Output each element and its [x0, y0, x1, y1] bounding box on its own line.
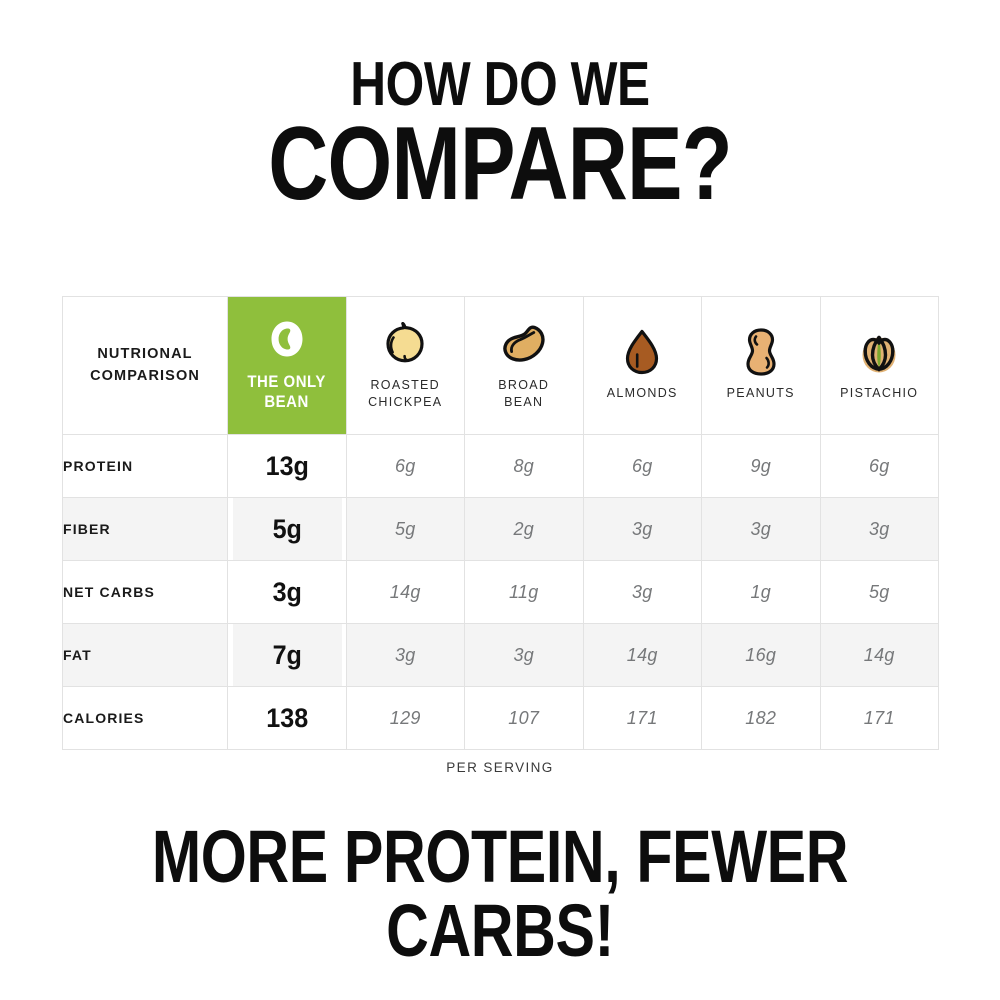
table-header-row: NUTRIONAL COMPARISON THE ONLY [63, 297, 939, 435]
cell-almonds: 3g [583, 561, 702, 624]
row-label: NET CARBS [63, 561, 228, 624]
column-header-peanuts: PEANUTS [702, 297, 821, 435]
brand-name-line-1: THE ONLY [248, 372, 326, 391]
headline-line-2: COMPARE? [100, 115, 900, 214]
cell-the-only-bean: 5g [232, 498, 342, 561]
brand-name-line-2: BEAN [248, 392, 326, 411]
cell-peanuts: 182 [702, 687, 821, 750]
cell-the-only-bean: 3g [232, 561, 342, 624]
cell-peanuts: 9g [702, 435, 821, 498]
cell-broad-bean: 11g [465, 561, 584, 624]
headline-line-1: HOW DO WE [100, 56, 900, 113]
table-row: CALORIES 138 129 107 171 182 171 [63, 687, 939, 750]
cell-pistachio: 6g [820, 435, 939, 498]
cell-the-only-bean: 13g [232, 435, 342, 498]
cell-roasted-chickpea: 6g [346, 435, 465, 498]
bean-logo-icon [270, 320, 304, 363]
cell-broad-bean: 2g [465, 498, 584, 561]
cell-the-only-bean: 138 [232, 687, 342, 750]
header-label-line-1: NUTRIONAL [63, 344, 227, 365]
table-row: FIBER 5g 5g 2g 3g 3g 3g [63, 498, 939, 561]
cell-pistachio: 3g [820, 498, 939, 561]
footer-slogan: MORE PROTEIN, FEWER CARBS! [100, 820, 900, 968]
cell-roasted-chickpea: 5g [346, 498, 465, 561]
nutrition-comparison-table: NUTRIONAL COMPARISON THE ONLY [62, 296, 939, 750]
comparison-table-wrapper: NUTRIONAL COMPARISON THE ONLY [62, 296, 938, 750]
column-header-pistachio: PISTACHIO [820, 297, 939, 435]
header-label-line-2: COMPARISON [63, 366, 227, 387]
column-label-line-1: PEANUTS [727, 385, 795, 402]
broad-bean-icon [501, 321, 547, 367]
cell-pistachio: 171 [820, 687, 939, 750]
cell-peanuts: 16g [702, 624, 821, 687]
almond-icon [625, 329, 659, 375]
per-serving-caption: PER SERVING [0, 760, 1000, 775]
column-header-almonds: ALMONDS [583, 297, 702, 435]
cell-roasted-chickpea: 129 [346, 687, 465, 750]
column-label-line-1: BROAD [498, 377, 549, 394]
column-label-line-2: BEAN [498, 394, 549, 411]
row-label: CALORIES [63, 687, 228, 750]
table-row: NET CARBS 3g 14g 11g 3g 1g 5g [63, 561, 939, 624]
cell-almonds: 6g [583, 435, 702, 498]
cell-roasted-chickpea: 14g [346, 561, 465, 624]
cell-roasted-chickpea: 3g [346, 624, 465, 687]
column-label-line-2: CHICKPEA [368, 394, 442, 411]
column-label-line-1: ROASTED [368, 377, 442, 394]
cell-broad-bean: 3g [465, 624, 584, 687]
cell-almonds: 3g [583, 498, 702, 561]
cell-pistachio: 14g [820, 624, 939, 687]
table-row: FAT 7g 3g 3g 14g 16g 14g [63, 624, 939, 687]
page-title: HOW DO WE COMPARE? [0, 0, 1000, 214]
infographic-page: HOW DO WE COMPARE? NUTRIONAL COMPARISON [0, 0, 1000, 1000]
cell-pistachio: 5g [820, 561, 939, 624]
row-label: PROTEIN [63, 435, 228, 498]
column-header-the-only-bean: THE ONLY BEAN [228, 297, 347, 435]
cell-the-only-bean: 7g [232, 624, 342, 687]
column-header-broad-bean: BROAD BEAN [465, 297, 584, 435]
chickpea-icon [384, 321, 426, 367]
row-label: FAT [63, 624, 228, 687]
column-label-line-1: PISTACHIO [840, 385, 918, 402]
peanut-icon [745, 329, 777, 375]
column-label-line-1: ALMONDS [607, 385, 678, 402]
pistachio-icon [860, 329, 898, 375]
cell-almonds: 14g [583, 624, 702, 687]
column-header-roasted-chickpea: ROASTED CHICKPEA [346, 297, 465, 435]
cell-almonds: 171 [583, 687, 702, 750]
table-row: PROTEIN 13g 6g 8g 6g 9g 6g [63, 435, 939, 498]
cell-broad-bean: 107 [465, 687, 584, 750]
cell-peanuts: 3g [702, 498, 821, 561]
row-label: FIBER [63, 498, 228, 561]
nutrition-comparison-header-cell: NUTRIONAL COMPARISON [63, 297, 228, 435]
cell-peanuts: 1g [702, 561, 821, 624]
cell-broad-bean: 8g [465, 435, 584, 498]
